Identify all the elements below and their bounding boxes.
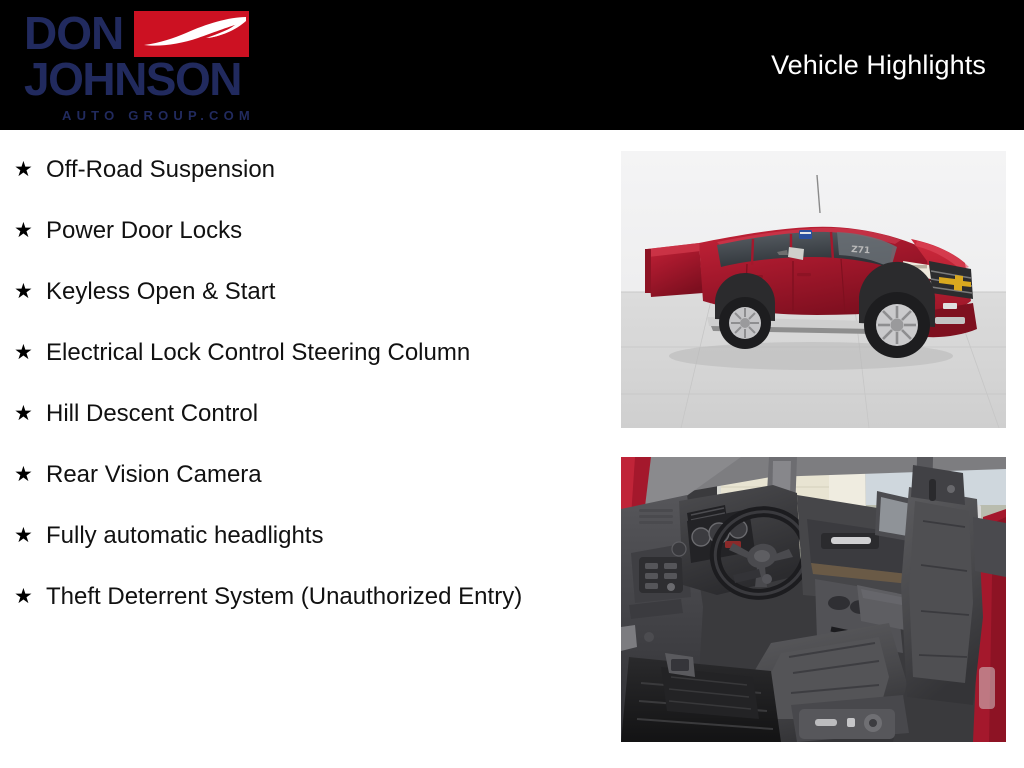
list-item: ★ Rear Vision Camera bbox=[0, 457, 600, 492]
logo-line-johnson: JOHNSON bbox=[24, 56, 241, 102]
star-icon: ★ bbox=[14, 579, 46, 613]
truck-exterior-illustration: Z71 bbox=[621, 151, 1006, 428]
list-item-label: Power Door Locks bbox=[46, 213, 571, 248]
list-item-label: Off-Road Suspension bbox=[46, 152, 571, 187]
star-icon: ★ bbox=[14, 335, 46, 369]
list-item: ★ Off-Road Suspension bbox=[0, 152, 600, 187]
header-bar: DON JOHNSON AUTO GROUP.COM Vehicle Highl… bbox=[0, 0, 1024, 130]
star-icon: ★ bbox=[14, 396, 46, 430]
star-icon: ★ bbox=[14, 152, 46, 186]
svg-text:Z71: Z71 bbox=[851, 245, 871, 256]
swoosh-icon bbox=[134, 11, 249, 57]
exterior-photo[interactable]: Z71 bbox=[621, 151, 1006, 428]
logo-tagline: AUTO GROUP.COM bbox=[62, 109, 255, 123]
star-icon: ★ bbox=[14, 457, 46, 491]
dealer-logo[interactable]: DON JOHNSON AUTO GROUP.COM bbox=[24, 6, 264, 124]
vehicle-highlights-page: DON JOHNSON AUTO GROUP.COM Vehicle Highl… bbox=[0, 0, 1024, 768]
list-item: ★ Fully automatic headlights bbox=[0, 518, 600, 553]
vehicle-highlights-list: ★ Off-Road Suspension ★ Power Door Locks… bbox=[0, 130, 600, 640]
list-item: ★ Electrical Lock Control Steering Colum… bbox=[0, 335, 600, 370]
list-item: ★ Keyless Open & Start bbox=[0, 274, 600, 309]
truck-interior-illustration bbox=[621, 457, 1006, 742]
star-icon: ★ bbox=[14, 518, 46, 552]
list-item-label: Rear Vision Camera bbox=[46, 457, 571, 492]
page-title: Vehicle Highlights bbox=[771, 50, 986, 81]
list-item: ★ Theft Deterrent System (Unauthorized E… bbox=[0, 579, 600, 614]
list-item-label: Hill Descent Control bbox=[46, 396, 571, 431]
star-icon: ★ bbox=[14, 274, 46, 308]
interior-photo[interactable] bbox=[621, 457, 1006, 742]
logo-line-don: DON bbox=[24, 10, 123, 56]
list-item: ★ Hill Descent Control bbox=[0, 396, 600, 431]
logo-swoosh-badge bbox=[134, 11, 249, 57]
list-item-label: Fully automatic headlights bbox=[46, 518, 571, 553]
list-item-label: Theft Deterrent System (Unauthorized Ent… bbox=[46, 579, 571, 614]
list-item: ★ Power Door Locks bbox=[0, 213, 600, 248]
star-icon: ★ bbox=[14, 213, 46, 247]
list-item-label: Electrical Lock Control Steering Column bbox=[46, 335, 571, 370]
list-item-label: Keyless Open & Start bbox=[46, 274, 571, 309]
